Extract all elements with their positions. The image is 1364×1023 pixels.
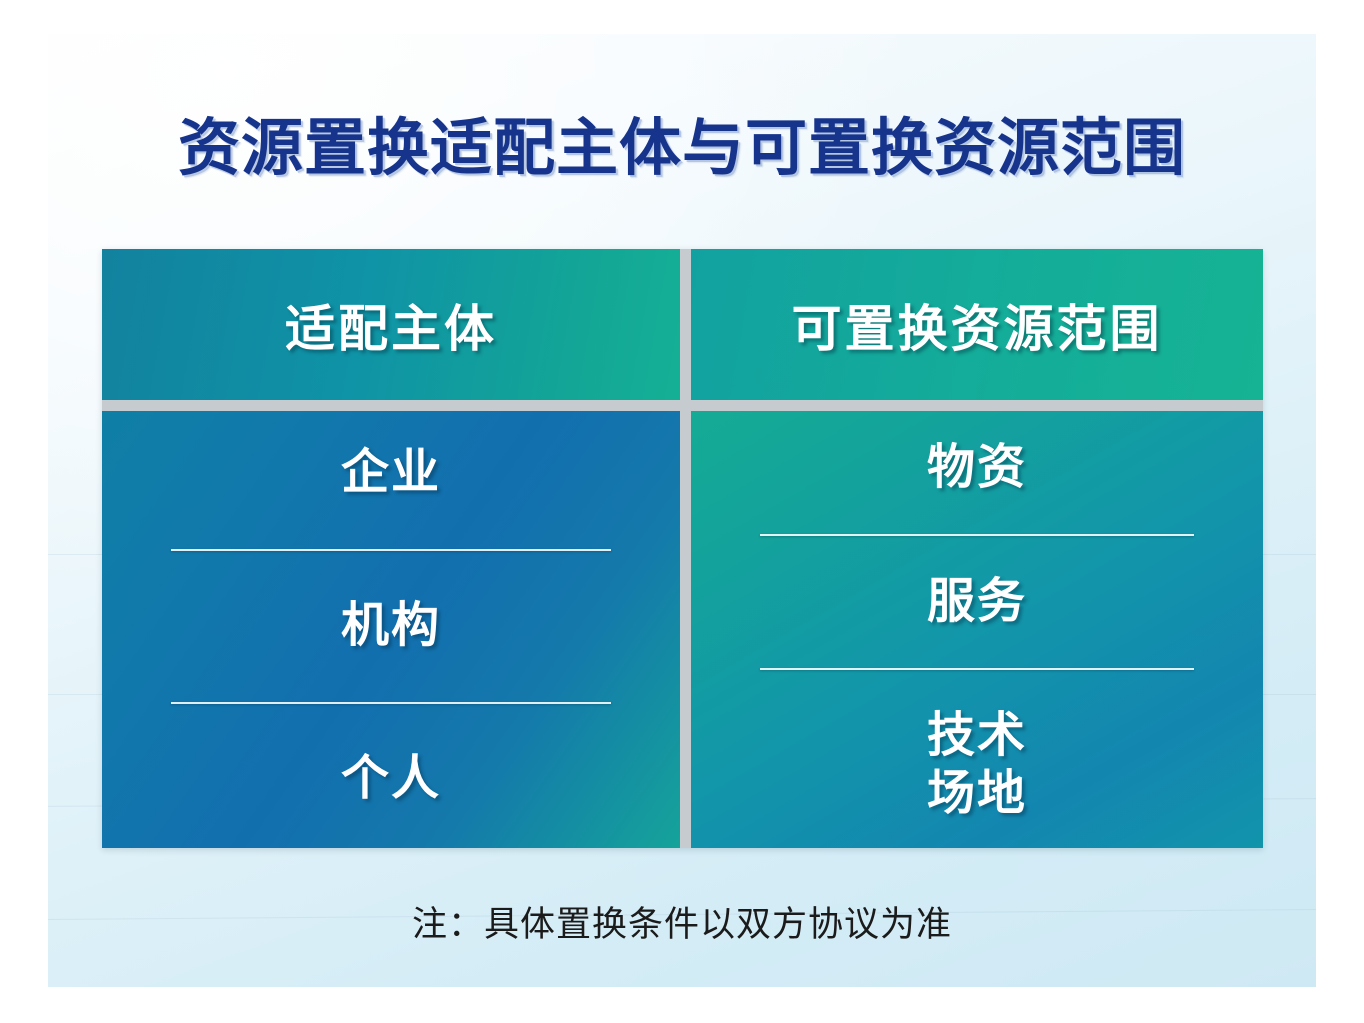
list-item: 技术 场地 xyxy=(927,707,1027,824)
resource-exchange-table: 适配主体 可置换资源范围 企业 机构 个人 物资 服务 技术 场地 xyxy=(102,249,1263,848)
table-header-label-subject: 适配主体 xyxy=(285,289,497,361)
item-separator xyxy=(171,702,610,704)
list-item: 企业 xyxy=(341,444,441,503)
item-separator xyxy=(171,549,610,551)
table-column-divider xyxy=(680,249,691,400)
list-item: 服务 xyxy=(927,573,1027,632)
table-body-cell-resource-scope: 物资 服务 技术 场地 xyxy=(691,411,1263,848)
table-header-cell-resource-scope: 可置换资源范围 xyxy=(691,249,1263,400)
item-separator xyxy=(760,668,1195,670)
table-header-cell-subject: 适配主体 xyxy=(102,249,680,400)
table-header-label-resource-scope: 可置换资源范围 xyxy=(792,289,1163,361)
table-body-cell-subject: 企业 机构 个人 xyxy=(102,411,680,848)
list-item: 物资 xyxy=(927,439,1027,498)
list-item: 机构 xyxy=(341,597,441,656)
list-item: 个人 xyxy=(341,750,441,809)
slide-canvas: 资源置换适配主体与可置换资源范围 适配主体 可置换资源范围 企业 机构 个人 物… xyxy=(48,34,1316,987)
table-header-divider xyxy=(102,400,1263,411)
footer-note: 注：具体置换条件以双方协议为准 xyxy=(48,896,1316,947)
item-separator xyxy=(760,534,1195,536)
page-title: 资源置换适配主体与可置换资源范围 xyxy=(48,97,1316,187)
table-column-divider xyxy=(680,411,691,848)
